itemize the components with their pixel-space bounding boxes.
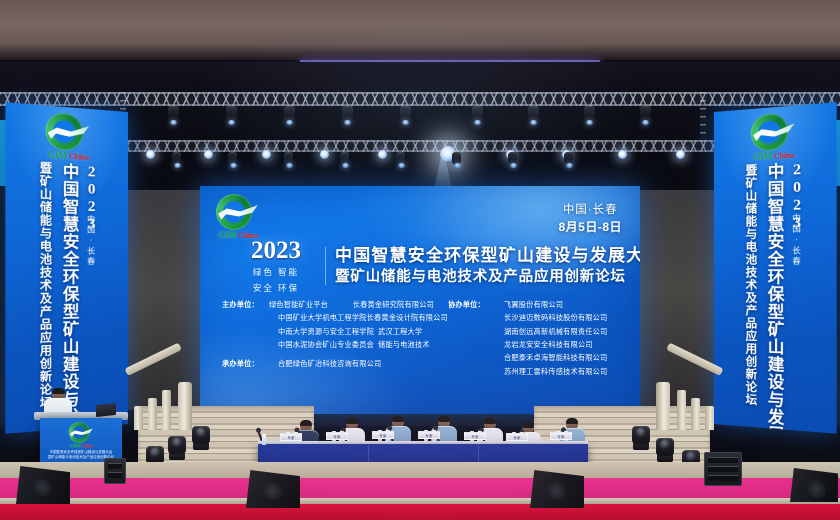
rack-slot [708,457,738,463]
light-head [196,427,207,438]
sponsor-row: 合肥泰禾卓海智能科技有限公司 [448,351,628,364]
banner-location: 中国·长春 [791,214,803,267]
person-hair [392,416,404,422]
moving-head-light [584,106,595,122]
logo-text-main: GIM [48,149,67,160]
event-title-row: 2023 绿色 智能 安全 环保 中国智慧安全环保型矿山建设与发展大会 暨矿山储… [236,238,640,295]
event-title-primary: 中国智慧安全环保型矿山建设与发展大会 [335,245,640,266]
stage-light [676,150,685,159]
event-titles: 中国智慧安全环保型矿山建设与发展大会 暨矿山储能与电池技术及产品应用创新论坛 [335,245,640,287]
moving-head-light [472,106,483,122]
event-location-date: 中国·长春 8月5日-8日 [558,202,622,236]
person-hair [438,416,450,422]
moving-head-light [400,106,411,122]
moving-head-light [564,152,573,165]
equipment-rack [704,452,742,486]
floor-moving-light [192,424,210,450]
logo-text-sub: China [69,152,89,162]
logo-text-sub: China [82,443,93,448]
stage-light [618,150,627,159]
organizer-row: 承办单位： 合肥绿色矿冶科技咨询有限公司 [222,357,434,370]
event-dates: 8月5日-8日 [558,219,622,236]
nameplate-text: 专家 [373,432,393,440]
sponsor-row: 主办单位： 绿色智能矿业平台 长春黄金研究院有限公司 [222,298,434,311]
nameplate-text: 专家 [281,434,301,442]
person-hair [484,418,496,424]
stage-monitor-speaker [16,466,70,504]
rack-slot [108,463,122,469]
balustrade-right [660,368,720,430]
nameplate-text: 专家 [507,434,527,442]
banner-year-col: 2023 中国·长春 [788,161,806,431]
stage-light [262,150,271,159]
banner-location: 中国·长春 [86,215,97,267]
host-label: 主办单位： [222,298,269,311]
stage-monitor-speaker [530,470,584,508]
gim-china-logo: GIM China [37,111,99,168]
event-year-block: 2023 绿色 智能 安全 环保 [236,238,316,295]
newel-post [178,382,192,430]
baluster [705,406,714,430]
conference-stage-photo: 欢迎莅临 中国智慧安全环保型矿山建设与发展大会 [0,0,840,520]
moving-head-light [342,106,353,122]
host-item: 绿色智能矿业平台 [269,298,353,311]
person-hair [522,422,534,428]
moving-head-light [284,106,295,122]
host-item: 长春黄金研究院有限公司 [353,298,434,311]
floor-moving-light [168,434,186,460]
host-item: 中国矿业大学机电工程学院 [278,311,367,324]
sponsor-row: 中南大学资源与安全工程学院 武汉工程大学 [222,325,434,338]
banner-text-right: 2023 中国·长春 中国智慧安全环保型矿山建设与发展大会 暨矿山储能与电池技术… [714,160,837,434]
banner-main-title: 中国智慧安全环保型矿山建设与发展大会 [761,162,786,429]
baluster [691,398,700,430]
banner-text-left: 2023 中国·长春 中国智慧安全环保型矿山建设与发展大会 暨矿山储能与电池技术… [5,160,128,434]
moving-head-light [452,152,461,165]
coorganizer-item: 龙岩龙安安全科技有限公司 [504,338,593,351]
coorganizer-item: 长沙迪迈数码科技股份有限公司 [504,311,607,324]
stage-monitor-speaker [246,470,300,508]
banner-sub-title: 暨矿山储能与电池技术及产品应用创新论坛 [36,161,53,431]
floor-moving-light [656,436,674,462]
nameplate: 专家 [464,432,486,440]
person-hair [300,420,312,426]
event-slogan-line2: 安全 环保 [236,282,316,295]
stage-light [204,150,213,159]
newel-post [656,382,670,430]
moving-head-light [508,152,517,165]
nameplate-text: 专家 [327,433,347,441]
moving-head-light [340,152,349,165]
event-title-secondary: 暨矿山储能与电池技术及产品应用创新论坛 [335,268,640,287]
coorganizer-item: 飞翼股份有限公司 [504,298,563,311]
moving-head-light [284,152,293,165]
logo-text: GIM China [37,149,99,163]
organizer-label: 承办单位： [222,357,278,370]
logo-text-main: GIM [70,443,81,449]
rack-slot [708,475,738,481]
nameplate: 专家 [550,432,572,440]
truss-support-right [700,92,706,144]
moving-head-light [528,106,539,122]
equipment-rack [104,458,126,484]
person-hair [346,418,358,424]
host-item: 长春黄金设计院有限公司 [367,311,448,324]
moving-head-light [640,106,651,122]
moving-head-light [172,152,181,165]
person-hair [566,418,578,424]
nameplate: 专家 [506,433,528,441]
sponsor-column-coorganizers: 协办单位： 飞翼股份有限公司 长沙迪迈数码科技股份有限公司 湖南创远高新机械有限… [448,298,628,378]
red-carpet [0,504,840,520]
main-led-screen: GIM China 中国·长春 8月5日-8日 2023 绿色 智能 安全 环保… [200,186,640,414]
logo-text-sub: China [774,150,794,160]
event-slogan-line1: 绿色 智能 [236,266,316,279]
water-bottle [262,434,266,445]
nameplate-text: 专家 [419,432,439,440]
floor-moving-light [632,424,650,450]
lighting-truss-lower [40,140,800,152]
stage-light [320,150,329,159]
light-head [636,427,647,438]
host-item: 中国水泥协会矿山专业委员会 [278,338,378,351]
host-item: 武汉工程大学 [378,325,422,338]
moving-head-light [396,152,405,165]
light-head [150,447,161,458]
moving-head-light [168,106,179,122]
nameplate: 专家 [418,431,440,439]
logo-text-main: GIM [753,151,772,162]
banner-year: 2023 [788,161,806,210]
host-item: 中南大学资源与安全工程学院 [278,325,378,338]
rack-slot [708,466,738,472]
moving-head-light [228,152,237,165]
banner-year: 2023 [82,164,99,212]
sponsor-row: 协办单位： 飞翼股份有限公司 [448,298,628,311]
baluster [134,406,143,430]
coorganizer-item: 苏州理工雷科传感技术有限公司 [504,365,607,378]
light-head [172,437,183,448]
sponsor-column-hosts: 主办单位： 绿色智能矿业平台 长春黄金研究院有限公司 中国矿业大学机电工程学院 … [222,298,434,378]
nameplate: 专家 [280,433,302,441]
coorganizer-label: 协办单位： [448,298,504,311]
person-hair [52,388,65,394]
event-year: 2023 [236,238,316,263]
light-head [660,439,671,450]
stage-light [146,150,155,159]
baluster [148,398,157,430]
logo-text: GIM China [743,149,805,163]
sponsor-row: 苏州理工雷科传感技术有限公司 [448,365,628,378]
light-head [686,451,697,462]
baluster [677,390,686,430]
stage-monitor-speaker [790,468,838,502]
nameplate: 专家 [326,432,348,440]
nameplate-text: 专家 [465,433,485,441]
nameplate: 专家 [372,431,394,439]
nameplate-text: 专家 [551,433,571,441]
organizer-value: 合肥绿色矿冶科技咨询有限公司 [278,357,381,370]
rack-slot [108,472,122,478]
balustrade-left [128,368,188,430]
sponsor-row: 长沙迪迈数码科技股份有限公司 [448,311,628,324]
banner-sub-title: 暨矿山储能与电池技术及产品应用创新论坛 [742,164,758,428]
event-location: 中国·长春 [558,202,622,219]
moving-head-light [226,106,237,122]
vertical-banner-left: GIM China 2023 中国·长春 中国智慧安全环保型矿山建设与发展大会 … [5,102,128,433]
vertical-banner-right: GIM China 2023 中国·长春 中国智慧安全环保型矿山建设与发展大会 … [714,102,837,433]
sponsor-row: 湖南创远高新机械有限责任公司 [448,325,628,338]
sponsor-block: 主办单位： 绿色智能矿业平台 长春黄金研究院有限公司 中国矿业大学机电工程学院 … [222,298,630,378]
gim-china-logo: GIM China [743,111,805,168]
sponsor-row: 中国矿业大学机电工程学院 长春黄金设计院有限公司 [222,311,434,324]
banner-year-col: 2023 中国·长春 [82,164,99,428]
logo-text-main: GIM [218,230,236,240]
coorganizer-item: 合肥泰禾卓海智能科技有限公司 [504,351,607,364]
laptop [96,403,116,417]
baluster [162,390,171,430]
lighting-truss-upper [0,92,840,106]
logo-text: GIM China [64,443,99,449]
title-divider [325,247,326,285]
coorganizer-item: 湖南创远高新机械有限责任公司 [504,325,607,338]
host-item: 储能与电池技术 [378,338,430,351]
stage-light [378,150,387,159]
sponsor-row: 龙岩龙安安全科技有限公司 [448,338,628,351]
sponsor-row: 中国水泥协会矿山专业委员会 储能与电池技术 [222,338,434,351]
